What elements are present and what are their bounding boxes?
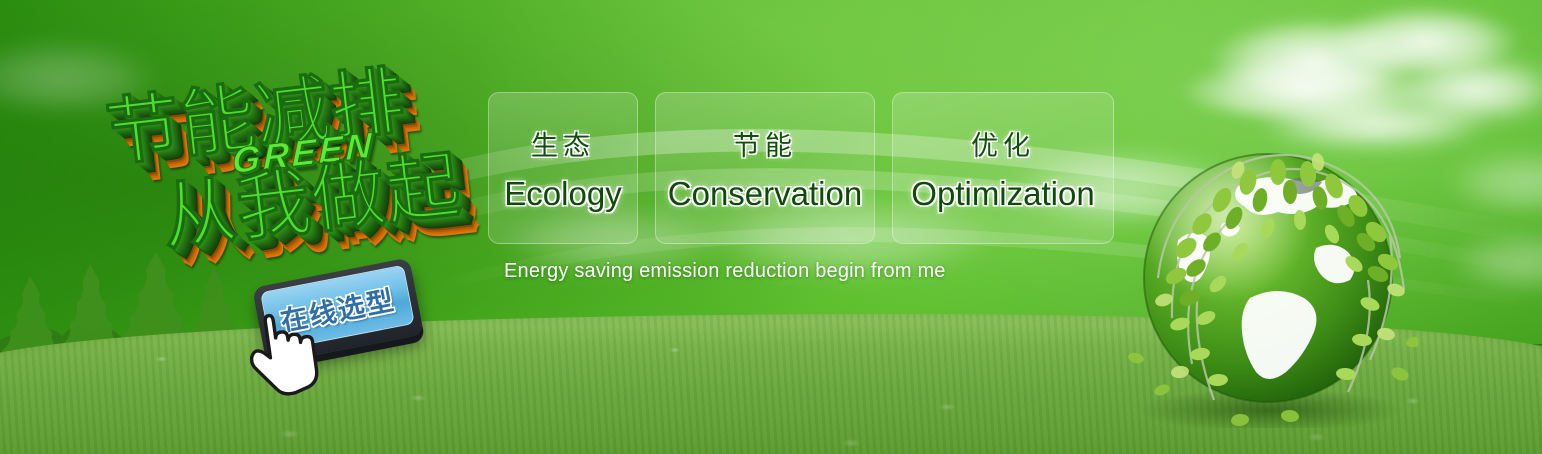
grass-field-icon: [0, 314, 1542, 454]
card-title-cn: 优化: [971, 124, 1035, 163]
card-title-cn: 节能: [733, 124, 797, 163]
button-label: 在线选型: [277, 278, 398, 338]
card-title-en: Ecology: [504, 175, 621, 213]
feature-card-optimization[interactable]: 优化 Optimization: [892, 92, 1114, 244]
feature-card-conservation[interactable]: 节能 Conservation: [655, 92, 875, 244]
card-title-en: Optimization: [911, 175, 1094, 213]
card-title-en: Conservation: [668, 175, 862, 213]
feature-cards: 生态 Ecology 节能 Conservation 优化 Optimizati…: [488, 92, 1114, 244]
card-title-cn: 生态: [531, 124, 595, 163]
banner-tagline: Energy saving emission reduction begin f…: [504, 260, 946, 283]
grass-texture: [0, 314, 1542, 454]
feature-card-ecology[interactable]: 生态 Ecology: [488, 92, 638, 244]
green-energy-banner: 节能减排 GREEN 从我做起 在线选型 生态 Ecology 节能 Conse…: [0, 0, 1542, 454]
